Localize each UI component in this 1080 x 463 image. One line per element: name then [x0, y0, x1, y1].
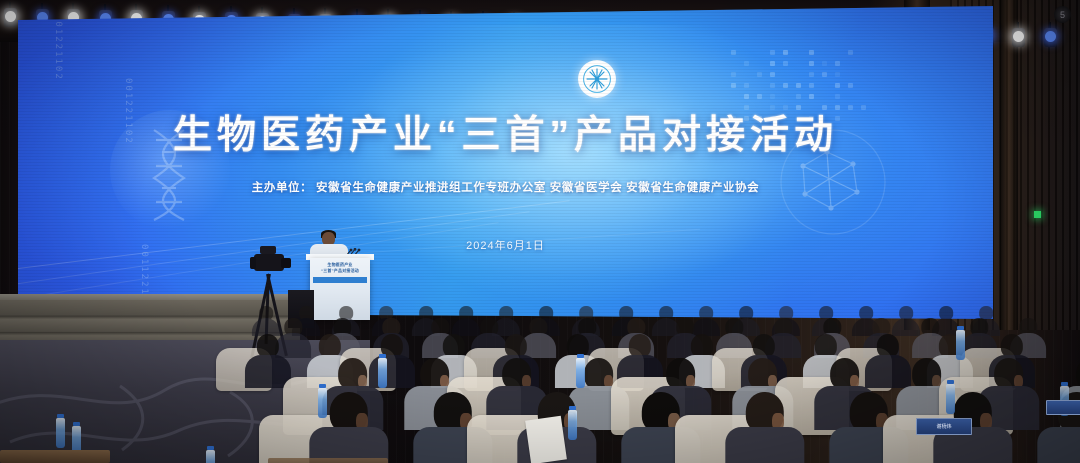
stage-light	[1010, 22, 1027, 48]
audience-member	[455, 306, 477, 332]
audience-member	[870, 334, 906, 380]
audience-area	[0, 300, 1080, 463]
water-bottle	[56, 418, 65, 448]
name-placard	[1046, 400, 1080, 415]
bottle-cap	[577, 354, 584, 358]
audience-member	[895, 306, 917, 332]
round-table	[268, 458, 388, 463]
camera-body	[254, 254, 284, 271]
bottle-cap	[947, 380, 954, 384]
camera-grip	[250, 257, 256, 269]
stage-light	[1042, 22, 1059, 48]
audience-member	[622, 334, 658, 380]
video-camera	[248, 246, 292, 276]
water-bottle	[378, 358, 387, 388]
led-stage-screen: 001221102 001221102 0011221 001121100	[18, 6, 993, 319]
podium-title-line2: “三首”产品对接活动	[313, 268, 367, 273]
water-bottle	[318, 388, 327, 418]
audience-member	[250, 334, 286, 380]
bottle-cap	[569, 406, 576, 410]
water-bottle	[206, 450, 215, 463]
audience-member	[734, 392, 796, 463]
audience-torso	[725, 427, 804, 463]
exit-sign-icon	[1034, 211, 1041, 218]
camera-hood	[260, 246, 276, 254]
bottle-cap	[207, 446, 214, 450]
bottle-cap	[1061, 382, 1068, 386]
audience-member	[965, 318, 993, 352]
stage-light	[2, 2, 19, 28]
round-table	[0, 450, 110, 463]
bottle-cap	[319, 384, 326, 388]
bottle-cap	[957, 326, 964, 330]
water-bottle	[946, 384, 955, 414]
camera-lens	[281, 258, 291, 268]
audience-member	[318, 392, 380, 463]
led-scanline-texture	[18, 6, 993, 319]
podium-title-line1: 生物医药产业	[313, 262, 367, 267]
audience-member	[255, 306, 277, 332]
water-bottle	[568, 410, 577, 440]
water-bottle	[956, 330, 965, 360]
audience-member	[720, 318, 748, 352]
audience-torso	[1037, 427, 1080, 463]
podium-accent-band	[313, 277, 367, 283]
screenshot-root: 5 001221102 001221102 0011221 001121100	[0, 0, 1080, 463]
bottle-cap	[73, 422, 80, 426]
bottle-cap	[379, 354, 386, 358]
bottle-cap	[57, 414, 64, 418]
water-bottle	[576, 358, 585, 388]
handout-paper	[525, 416, 567, 463]
name-placard: 谢杨炜	[916, 418, 972, 435]
